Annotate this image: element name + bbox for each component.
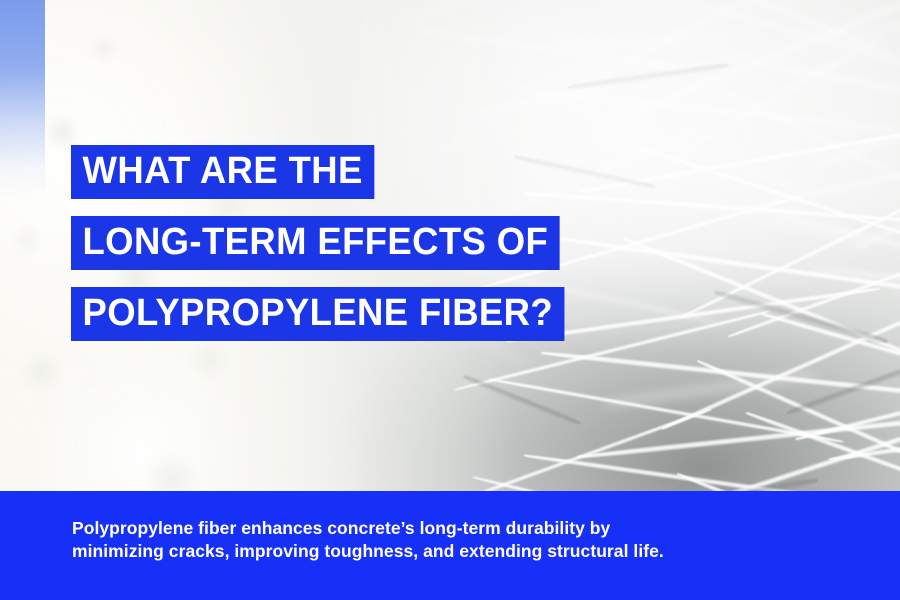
headline-line-1: WHAT ARE THE <box>71 145 374 199</box>
caption-text: Polypropylene fiber enhances concrete’s … <box>72 517 832 563</box>
caption-line-2: minimizing cracks, improving toughness, … <box>72 540 832 563</box>
left-blue-gradient-strip <box>0 0 45 200</box>
caption-bar: Polypropylene fiber enhances concrete’s … <box>0 491 900 600</box>
headline-line-3: POLYPROPYLENE FIBER? <box>71 287 565 341</box>
promotional-banner: WHAT ARE THE LONG-TERM EFFECTS OF POLYPR… <box>0 0 900 600</box>
headline-line-2: LONG-TERM EFFECTS OF <box>71 216 560 270</box>
headline-title: WHAT ARE THE LONG-TERM EFFECTS OF POLYPR… <box>71 145 585 341</box>
caption-line-1: Polypropylene fiber enhances concrete’s … <box>72 517 832 540</box>
